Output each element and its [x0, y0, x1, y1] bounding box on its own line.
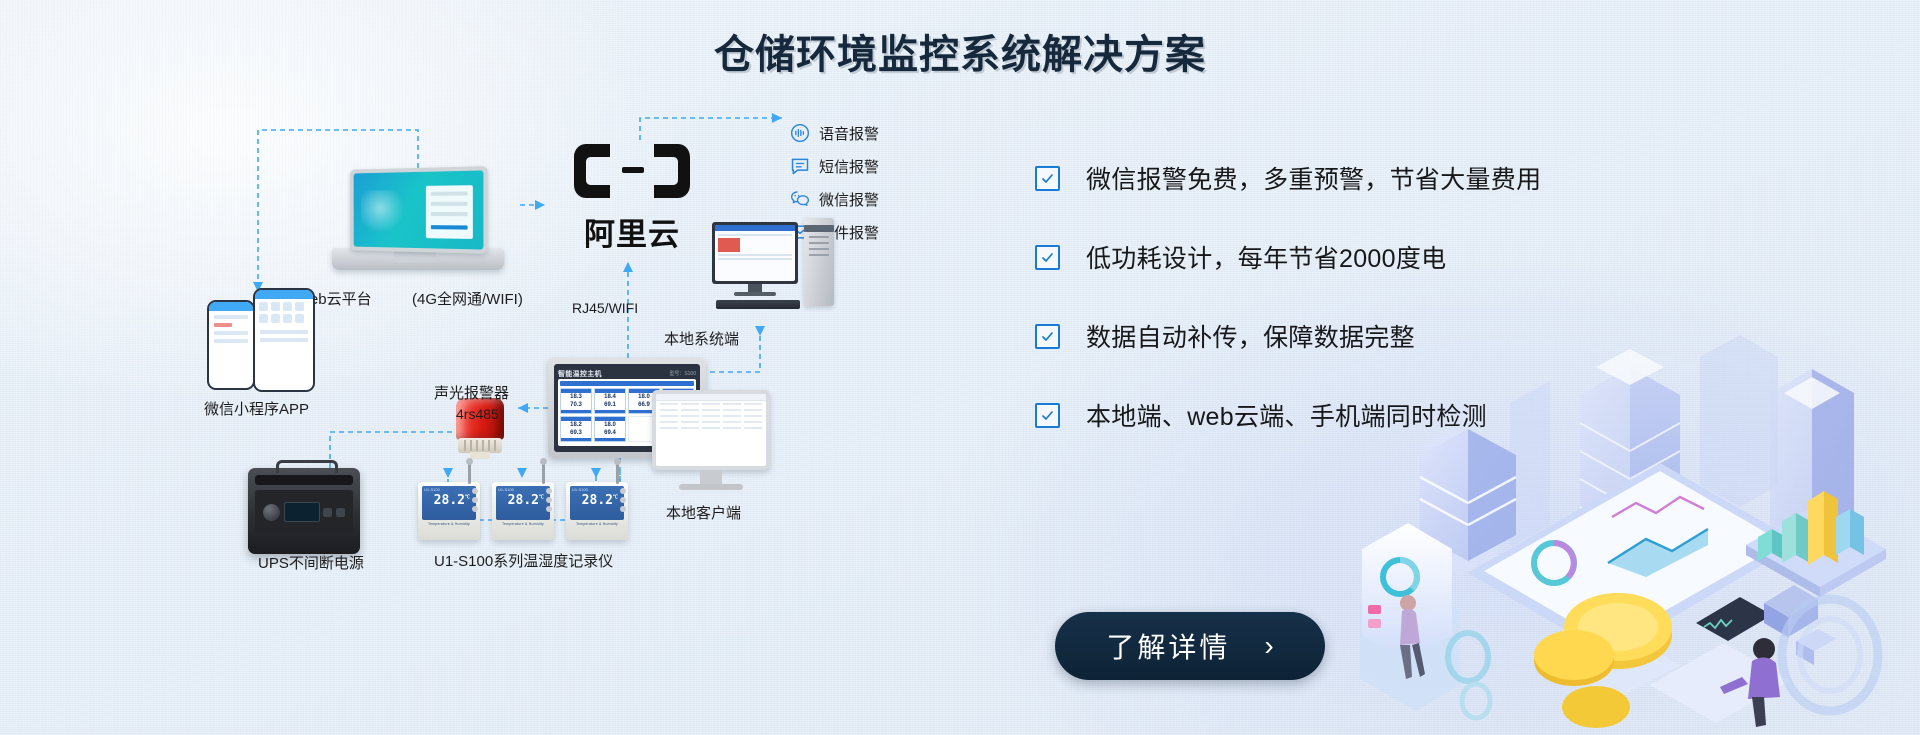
channel-cell: 18.4 69.1	[594, 388, 626, 414]
web-cloud-laptop	[332, 168, 504, 276]
alicloud-mark-icon	[572, 140, 692, 202]
sensor-value-number: 28.2	[582, 493, 613, 508]
channel-foot	[595, 410, 625, 413]
label-network-mode: (4G全网通/WIFI)	[412, 288, 523, 309]
feature-text: 微信报警免费，多重预警，节省大量费用	[1086, 160, 1541, 196]
architecture-diagram: Web云平台 阿里云 (4G全网通/WIFI) 语音报警	[0, 0, 1030, 735]
siren-rib	[464, 440, 466, 451]
ups-handle	[276, 460, 338, 473]
sensor-model: U1-S100	[572, 487, 588, 492]
humidity-sensor: U1-S100 28.2℃ Temperature & Humidity	[418, 482, 480, 540]
cell	[681, 403, 699, 405]
controller-model: 型号：S100	[669, 370, 696, 377]
siren-rib	[476, 440, 478, 451]
channel-temp: 18.3	[561, 393, 591, 401]
siren-rib	[482, 440, 484, 451]
feature-text: 低功耗设计，每年节省2000度电	[1086, 239, 1446, 275]
sensor-antenna	[616, 462, 619, 484]
local-client-imac	[652, 390, 770, 494]
controller-brand: 智能温控主机	[558, 369, 602, 379]
phone-row	[260, 338, 308, 342]
sensor-caption: Temperature & Humidity	[422, 522, 476, 526]
phone-statusbar	[209, 302, 253, 311]
phone-tile	[283, 314, 292, 323]
checkbox-checked-icon	[1035, 403, 1060, 428]
imac-stand-foot	[679, 484, 743, 490]
cell	[660, 421, 678, 423]
channel-hum: 69.1	[595, 401, 625, 409]
cell	[681, 409, 699, 411]
bar-chart-platform	[1746, 491, 1886, 597]
phone-row	[214, 339, 248, 343]
login-field	[431, 191, 468, 195]
channel-hum: 70.3	[561, 401, 591, 409]
ups-port	[336, 508, 345, 517]
optical-drive-slot	[804, 225, 834, 232]
phone-tile	[295, 314, 304, 323]
sensor-display: U1-S100 28.2℃	[570, 486, 624, 520]
wechat-app-phones	[207, 288, 317, 392]
cell	[723, 409, 741, 411]
wave-decor	[1448, 633, 1490, 718]
checkbox-checked-icon	[1035, 166, 1060, 191]
label-local-client: 本地客户端	[666, 502, 741, 523]
phone-tile	[259, 314, 268, 323]
imac-screen	[656, 394, 766, 466]
cell	[744, 415, 762, 417]
siren-foot	[470, 452, 490, 459]
login-submit	[431, 225, 468, 229]
label-rs485-bus: 4rs485	[456, 406, 499, 422]
channel-cell: 18.2 69.3	[560, 416, 592, 442]
sensor-button	[472, 506, 478, 512]
connector-wires	[0, 0, 1030, 735]
feature-item: 低功耗设计，每年节省2000度电	[1035, 239, 1675, 275]
alarm-label-sms: 短信报警	[819, 156, 879, 177]
laptop-screen	[354, 170, 484, 249]
siren-base	[458, 438, 502, 453]
sensor-button	[620, 488, 626, 494]
cell	[660, 409, 678, 411]
sensor-caption: Temperature & Humidity	[496, 522, 550, 526]
siren-rib	[494, 440, 496, 451]
cell	[723, 403, 741, 405]
ring-decor	[1782, 599, 1878, 711]
humidity-sensor: U1-S100 28.2℃ Temperature & Humidity	[566, 482, 628, 540]
alarm-label-wechat: 微信报警	[819, 189, 879, 210]
phone-tile	[295, 302, 304, 311]
imac-toolbar	[656, 394, 766, 401]
phone-row	[214, 331, 248, 335]
alarm-item-voice: 语音报警	[790, 120, 879, 146]
phone-row-alert	[214, 323, 232, 327]
feature-item: 本地端、web云端、手机端同时检测	[1035, 397, 1675, 433]
screen-illustration	[361, 190, 410, 236]
label-local-system: 本地系统端	[664, 328, 739, 349]
sensor-button	[546, 488, 552, 494]
phone-tile	[271, 314, 280, 323]
pc-tower	[804, 218, 834, 306]
channel-foot	[561, 410, 591, 413]
feature-text: 数据自动补传，保障数据完整	[1086, 318, 1415, 354]
cell	[660, 427, 678, 429]
ups-power-supply	[248, 468, 360, 554]
ups-front-panel	[255, 490, 353, 534]
sensor-display-header: U1-S100	[422, 486, 476, 493]
alibaba-cloud-logo: 阿里云	[572, 140, 692, 254]
sensor-buttons	[472, 488, 478, 515]
alarm-item-sms: 短信报警	[790, 153, 879, 179]
sensor-value: 28.2℃	[434, 493, 470, 508]
phone-statusbar	[255, 290, 313, 299]
sensor-button	[620, 497, 626, 503]
laptop-lid	[350, 166, 488, 254]
person-right	[1720, 638, 1780, 727]
dashboard-charts	[1534, 497, 1708, 583]
alicloud-brand-label: 阿里云	[572, 209, 692, 254]
imac-body	[652, 390, 770, 470]
channel-cell: 18.0 69.4	[594, 416, 626, 442]
sensor-caption: Temperature & Humidity	[570, 522, 624, 526]
label-siren: 声光报警器	[434, 382, 509, 403]
sensor-button	[546, 497, 552, 503]
cell	[744, 403, 762, 405]
channel-temp: 18.0	[595, 421, 625, 429]
channel-cell: 18.3 70.3	[560, 388, 592, 414]
phone-row	[214, 315, 248, 319]
sensor-model: U1-S100	[424, 487, 440, 492]
sensor-value: 28.2℃	[582, 493, 618, 508]
ups-display	[284, 502, 320, 522]
sensor-unit: ℃	[539, 495, 544, 501]
sensor-value-number: 28.2	[434, 493, 465, 508]
imac-stand-neck	[700, 470, 722, 484]
login-field	[431, 212, 468, 216]
cell	[702, 409, 720, 411]
keyboard	[716, 300, 800, 309]
sensor-button	[472, 488, 478, 494]
ups-top-panel	[255, 475, 353, 485]
channel-hum: 69.4	[595, 429, 625, 437]
sensor-button	[472, 497, 478, 503]
tower-vent	[809, 248, 829, 250]
channel-temp: 18.4	[595, 393, 625, 401]
controller-titlebar	[560, 381, 694, 386]
sensor-value: 28.2℃	[508, 493, 544, 508]
cell	[744, 409, 762, 411]
monitor-screen	[715, 225, 795, 281]
cell	[723, 415, 741, 417]
imac-table-row	[656, 425, 766, 431]
learn-more-label: 了解详情	[1106, 626, 1230, 666]
cell	[723, 421, 741, 423]
phone-tile-grid	[255, 299, 313, 326]
feature-item: 数据自动补传，保障数据完整	[1035, 318, 1675, 354]
alarm-item-wechat: 微信报警	[790, 186, 879, 212]
phone-primary	[253, 288, 315, 392]
cell	[681, 415, 699, 417]
sensor-value-number: 28.2	[508, 493, 539, 508]
checkbox-checked-icon	[1035, 245, 1060, 270]
person-left	[1400, 595, 1425, 679]
sensor-model: U1-S100	[498, 487, 514, 492]
banner-stage: 仓储环境监控系统解决方案	[0, 0, 1920, 735]
phone-secondary	[207, 300, 255, 390]
sensor-button	[546, 506, 552, 512]
sensor-display: U1-S100 28.2℃	[422, 486, 476, 520]
app-row	[718, 258, 792, 260]
cell	[660, 415, 678, 417]
sensor-antenna	[542, 462, 545, 484]
login-field	[431, 202, 468, 206]
sensor-display-header: U1-S100	[496, 486, 550, 493]
ups-knob	[263, 504, 280, 521]
channel-foot	[595, 438, 625, 441]
phone-tile	[271, 302, 280, 311]
cell	[702, 427, 720, 429]
sensor-display: U1-S100 28.2℃	[496, 486, 550, 520]
sensor-unit: ℃	[465, 495, 470, 501]
app-row	[718, 234, 792, 236]
tower-vent	[809, 242, 829, 244]
cell	[681, 427, 699, 429]
label-rj45-wifi: RJ45/WIFI	[572, 300, 638, 316]
sensor-display-header: U1-S100	[570, 486, 624, 493]
channel-foot	[561, 438, 591, 441]
tower-vent	[809, 254, 829, 256]
wechat-alarm-icon	[790, 189, 810, 209]
coins	[1534, 593, 1672, 728]
feature-list: 微信报警免费，多重预警，节省大量费用 低功耗设计，每年节省2000度电 数据自动…	[1035, 160, 1675, 476]
dashboard-monitor	[1468, 463, 1800, 703]
login-card	[426, 185, 473, 239]
channel-temp: 18.2	[561, 421, 591, 429]
cell	[660, 403, 678, 405]
channel-hum: 69.3	[561, 429, 591, 437]
learn-more-button[interactable]: 了解详情 ›	[1055, 612, 1325, 680]
phone-tile	[259, 302, 268, 311]
workstation-scene	[1650, 585, 1836, 727]
feature-item: 微信报警免费，多重预警，节省大量费用	[1035, 160, 1675, 196]
controller-header: 智能温控主机 型号：S100	[558, 368, 696, 379]
label-sensors: U1-S100系列温湿度记录仪	[434, 550, 613, 571]
label-ups: UPS不间断电源	[258, 552, 364, 573]
siren-rib	[470, 440, 472, 451]
tower-vent	[809, 236, 829, 238]
desktop-monitor	[712, 222, 798, 284]
label-wechat-app: 微信小程序APP	[204, 398, 309, 419]
laptop-trackpad	[394, 251, 436, 262]
sensor-unit: ℃	[613, 495, 618, 501]
app-content	[715, 231, 795, 265]
feature-text: 本地端、web云端、手机端同时检测	[1086, 397, 1487, 433]
phone-row	[260, 330, 308, 334]
cell	[702, 415, 720, 417]
chevron-right-icon: ›	[1264, 632, 1273, 660]
sensor-button	[620, 506, 626, 512]
alarm-label-voice: 语音报警	[819, 123, 879, 144]
cell	[702, 421, 720, 423]
mobile-user-scene	[1360, 523, 1460, 711]
checkbox-checked-icon	[1035, 324, 1060, 349]
cell	[681, 421, 699, 423]
cell	[702, 403, 720, 405]
humidity-sensor: U1-S100 28.2℃ Temperature & Humidity	[492, 482, 554, 540]
cell	[744, 421, 762, 423]
monitor-stand-foot	[734, 292, 776, 296]
app-alert-block	[718, 238, 740, 252]
sensor-buttons	[620, 488, 626, 515]
sensor-antenna	[468, 462, 471, 484]
cell	[744, 427, 762, 429]
sms-alarm-icon	[790, 156, 810, 176]
ups-port	[323, 508, 332, 517]
voice-alarm-icon	[790, 123, 810, 143]
phone-tile	[283, 302, 292, 311]
cell	[723, 427, 741, 429]
sensor-buttons	[546, 488, 552, 515]
siren-rib	[488, 440, 490, 451]
app-row	[718, 254, 792, 256]
local-system-workstation	[712, 222, 832, 332]
